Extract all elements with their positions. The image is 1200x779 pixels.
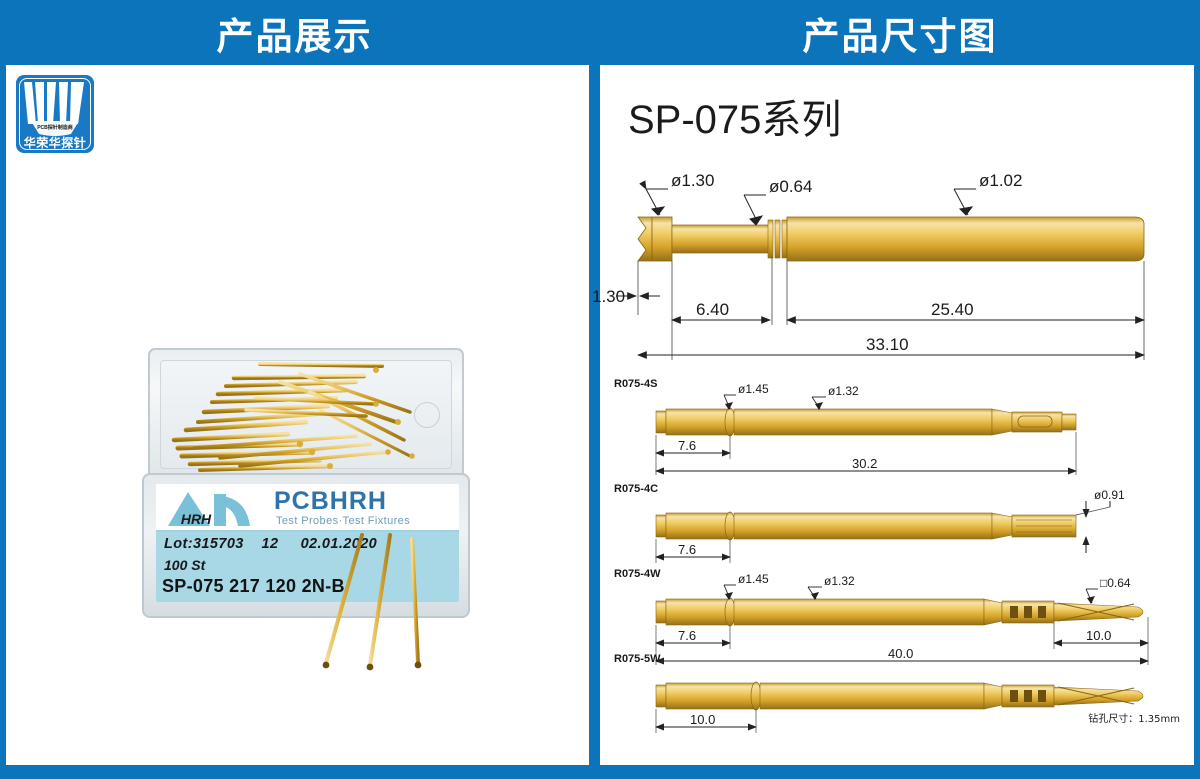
- dim-d130: ø1.30: [671, 171, 714, 190]
- company-logo: PCB探针制造商 华荣华探针: [14, 73, 96, 155]
- left-header-title: 产品展示: [217, 6, 373, 60]
- dim-len-3310: 33.10: [866, 335, 909, 354]
- right-header-title: 产品尺寸图: [803, 6, 998, 60]
- label-quantity: 100 St: [164, 557, 205, 573]
- dim-4w-d132: ø1.32: [824, 574, 855, 588]
- dim-d102: ø1.02: [979, 171, 1022, 190]
- r075-4s-drawing: ø1.45 ø1.32 7.6 30.2: [620, 383, 1190, 483]
- dim-4w-d145: ø1.45: [738, 572, 769, 586]
- dim-4s-d132: ø1.32: [828, 384, 859, 398]
- main-probe-drawing: ø1.30 ø0.64 ø1.02 1.30 6.40: [608, 165, 1188, 420]
- product-photo-panel: PCB探针制造商 华荣华探针: [6, 65, 589, 765]
- dim-len-130: 1.30: [592, 287, 625, 306]
- hrh-logo-icon: HRH: [162, 486, 268, 531]
- dim-len-640: 6.40: [696, 300, 729, 319]
- dim-4c-len-76: 7.6: [678, 542, 696, 557]
- dim-4s-d145: ø1.45: [738, 382, 769, 396]
- dim-4s-len-76: 7.6: [678, 438, 696, 453]
- dimension-drawings-panel: SP-075系列: [600, 65, 1194, 765]
- series-title: SP-075系列: [628, 87, 841, 145]
- probe-pin-heap: [160, 352, 430, 474]
- product-photo: HRH PCBHRH Test Probes·Test Fixtures Lot…: [126, 270, 486, 670]
- drill-size-note: 钻孔尺寸：1.35mm: [1088, 710, 1180, 725]
- label-brand: PCBHRH: [274, 487, 387, 516]
- dim-4w-len-100: 10.0: [1086, 628, 1111, 643]
- dim-4s-len-302: 30.2: [852, 456, 877, 471]
- dim-d064: ø0.64: [769, 177, 812, 196]
- dim-5w-len-100: 10.0: [690, 712, 715, 727]
- svg-text:HRH: HRH: [181, 511, 212, 527]
- dim-4c-d091: ø0.91: [1094, 488, 1125, 502]
- label-lot-number: 12: [261, 536, 278, 552]
- panel-header-product-photo: 产品展示: [0, 0, 589, 65]
- loose-probe-pins: [306, 535, 471, 680]
- label-lot: Lot:315703: [164, 536, 244, 552]
- panel-header-dimensions: 产品尺寸图: [600, 0, 1200, 65]
- dim-len-2540: 25.40: [931, 300, 974, 319]
- label-brand-subtitle: Test Probes·Test Fixtures: [276, 515, 410, 527]
- dim-4w-len-76: 7.6: [678, 628, 696, 643]
- dim-4w-sq064: □0.64: [1100, 576, 1131, 590]
- panel-divider: [589, 0, 600, 779]
- svg-text:PCB探针制造商: PCB探针制造商: [37, 124, 73, 131]
- r075-5w-drawing: 10.0: [620, 659, 1190, 749]
- product-spec-sheet: 产品展示 产品尺寸图 PCB探针制造商 华荣华探针: [0, 0, 1200, 779]
- logo-text: 华荣华探针: [16, 134, 94, 151]
